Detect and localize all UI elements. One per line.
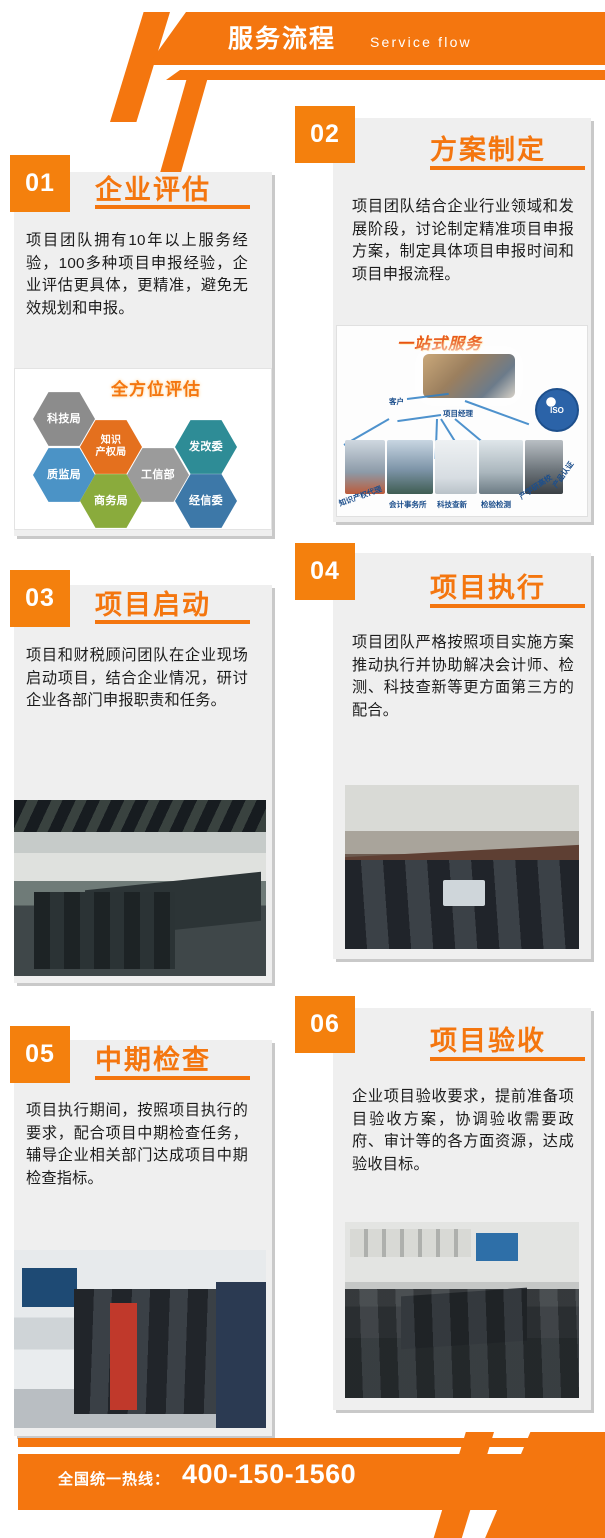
service-arrow-2 [397,414,441,422]
card-06-number-badge: 06 [295,996,355,1053]
photo-person-red-coat [110,1303,138,1410]
header-slash-left-secondary-icon [158,70,210,180]
card-05-body: 项目执行期间，按照项目执行的要求，配合项目中期检查任务，辅导企业相关部门达成项目… [26,1100,248,1190]
card-03-title: 项目启动 [95,583,211,622]
hexagon-node-label: 知识产权局 [96,435,127,460]
card-05-title: 中期检查 [95,1038,211,1077]
card-01-number-badge: 01 [10,155,70,212]
photo-group [74,1289,220,1414]
photo-person-right [216,1282,266,1428]
service-thumb-testing [479,440,523,494]
card-02-body: 项目团队结合企业行业领域和发展阶段，讨论制定精准项目申报方案，制定具体项目申报时… [352,196,574,286]
hexagon-node-label: 工信部 [141,469,175,482]
service-item-label-search: 科技查新 [437,499,467,510]
service-iso-badge-icon: ISO [535,388,579,432]
photo-wall-monitor [22,1268,77,1307]
page-subtitle: Service flow [370,31,472,53]
hotline-number[interactable]: 400-150-1560 [182,1459,356,1490]
photo-projector-screen [476,1233,518,1261]
hexagon-node-label: 质监局 [47,469,81,482]
service-arrow-3 [465,400,530,425]
header-banner-underline [166,70,605,80]
photo-attendees [345,1289,579,1398]
photo-wall-frames [350,1229,472,1257]
hexagon-node-label: 发改委 [189,441,223,454]
service-hub-label: 项目经理 [443,408,473,419]
card-02-title-rule [430,166,585,170]
service-hub-photo [423,354,515,398]
hexagon-node-label: 商务局 [94,495,128,508]
card-04-title-rule [430,604,585,608]
card-03-photo-meeting-room [14,800,266,976]
card-04-photo-working-session [345,785,579,949]
service-item-label-accounting: 会计事务所 [389,499,427,510]
card-04-number-badge: 04 [295,543,355,600]
card-05-photo-site-visit [14,1250,266,1428]
service-thumb-search [435,440,477,494]
card-05-number-badge: 05 [10,1026,70,1083]
card-01-figure-hexagon-diagram: 全方位评估 科技局 知识产权局 质监局 工信部 商务局 发改委 经信委 [14,368,272,530]
service-figure-title: 一站式服务 [397,330,482,354]
card-02-figure-one-stop-service: 一站式服务 客户 项目经理 知识产权代理 会计事务所 科技查新 检验检测 产学研… [336,325,588,517]
card-02-number-badge: 02 [295,106,355,163]
card-03-title-rule [95,620,250,624]
card-01-title-rule [95,205,250,209]
card-04-title: 项目执行 [430,566,546,605]
hexagon-node-fagai-wei: 发改委 [175,419,237,475]
hexagon-node-label: 科技局 [47,413,81,426]
card-03-number-badge: 03 [10,570,70,627]
card-06-body: 企业项目验收要求，提前准备项目验收方案，协调验收需要政府、审计等的各方面资源，达… [352,1086,574,1176]
card-05-title-rule [95,1076,250,1080]
header-slash-left-icon [110,12,170,122]
card-01-body: 项目团队拥有10年以上服务经验，100多种项目申报经验，企业评估更具体，更精准，… [26,230,248,320]
service-flow-page: 服务流程 Service flow 01 企业评估 项目团队拥有10年以上服务经… [0,0,605,1538]
card-06-photo-acceptance-meeting [345,1222,579,1398]
hotline-label: 全国统一热线： [58,1468,170,1489]
card-01-title: 企业评估 [95,168,211,207]
card-06-title-rule [430,1057,585,1061]
card-03-body: 项目和财税顾问团队在企业现场启动项目，结合企业情况，研讨企业各部门申报职责和任务… [26,645,248,713]
hexagon-figure-title: 全方位评估 [111,375,201,400]
photo-ceiling-pattern [14,800,266,832]
photo-laptop [443,880,485,906]
hexagon-node-label: 经信委 [189,495,223,508]
card-04-body: 项目团队严格按照项目实施方案推动执行并协助解决会计师、检测、科技查新等更方面第三… [352,632,574,722]
service-thumb-accounting [387,440,433,494]
page-title: 服务流程 [228,20,336,58]
service-item-label-testing: 检验检测 [481,499,511,510]
photo-chairs [34,892,175,969]
footer-top-line [18,1438,586,1447]
service-client-label: 客户 [389,396,404,407]
page-header: 服务流程 Service flow [0,0,605,102]
card-06-title: 项目验收 [430,1019,546,1058]
card-02-title: 方案制定 [430,128,546,167]
